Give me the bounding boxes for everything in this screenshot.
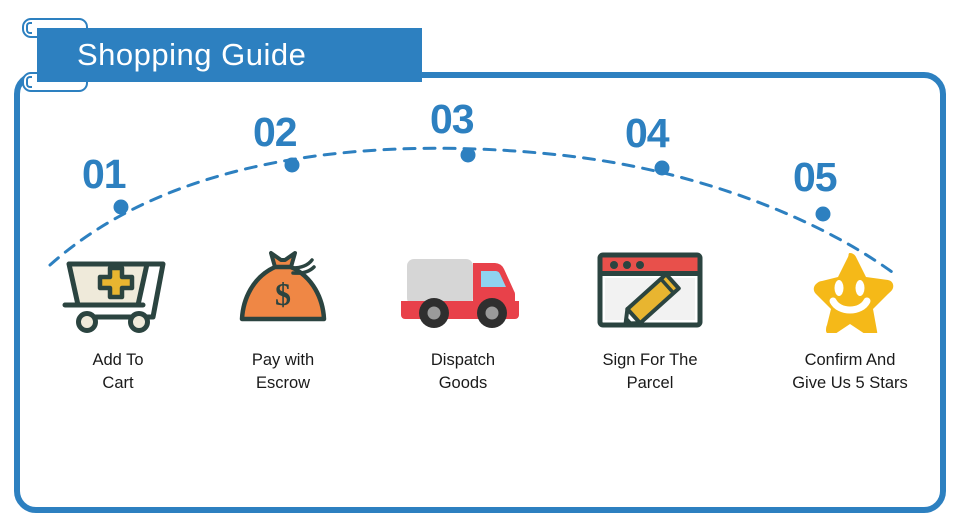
step-number-02: 02 xyxy=(253,109,297,156)
step-icon-05 xyxy=(755,247,945,333)
step-icon-03 xyxy=(368,247,558,333)
header-banner: Shopping Guide xyxy=(22,18,442,96)
step-label-05-line2: Give Us 5 Stars xyxy=(755,372,945,395)
step-label-02: Pay with Escrow xyxy=(188,349,378,396)
step-label-03-line2: Goods xyxy=(368,372,558,395)
step-label-01-line2: Cart xyxy=(23,372,213,395)
delivery-truck-icon xyxy=(393,247,533,333)
step-item-04[interactable]: Sign For The Parcel xyxy=(555,247,745,396)
step-item-03[interactable]: Dispatch Goods xyxy=(368,247,558,396)
step-label-04: Sign For The Parcel xyxy=(555,349,745,396)
step-label-05-line1: Confirm And xyxy=(805,351,896,369)
step-number-04: 04 xyxy=(625,110,669,157)
banner-scroll-nib-top xyxy=(26,22,32,34)
step-number-05: 05 xyxy=(793,154,837,201)
page-title: Shopping Guide xyxy=(77,28,306,82)
smiling-star-icon xyxy=(798,247,902,333)
svg-text:$: $ xyxy=(275,276,291,312)
step-item-01[interactable]: Add To Cart xyxy=(23,247,213,396)
step-label-03-line1: Dispatch xyxy=(431,351,495,369)
step-label-05: Confirm And Give Us 5 Stars xyxy=(755,349,945,396)
banner-scroll-nib-bottom xyxy=(26,76,32,88)
step-icon-04 xyxy=(555,247,745,333)
money-bag-icon: $ xyxy=(233,247,333,333)
step-label-02-line1: Pay with xyxy=(252,351,314,369)
step-label-01: Add To Cart xyxy=(23,349,213,396)
step-icon-01 xyxy=(23,247,213,333)
step-label-04-line1: Sign For The xyxy=(602,351,697,369)
step-number-03: 03 xyxy=(430,96,474,143)
banner-bar: Shopping Guide xyxy=(37,28,422,82)
step-label-03: Dispatch Goods xyxy=(368,349,558,396)
step-label-02-line2: Escrow xyxy=(188,372,378,395)
step-item-02[interactable]: $ Pay with Escrow xyxy=(188,247,378,396)
sign-document-icon xyxy=(594,247,706,333)
step-label-01-line1: Add To xyxy=(92,351,143,369)
step-item-05[interactable]: Confirm And Give Us 5 Stars xyxy=(755,247,945,396)
step-icon-02: $ xyxy=(188,247,378,333)
shopping-cart-icon xyxy=(59,247,177,333)
step-label-04-line2: Parcel xyxy=(555,372,745,395)
step-number-01: 01 xyxy=(82,151,126,198)
